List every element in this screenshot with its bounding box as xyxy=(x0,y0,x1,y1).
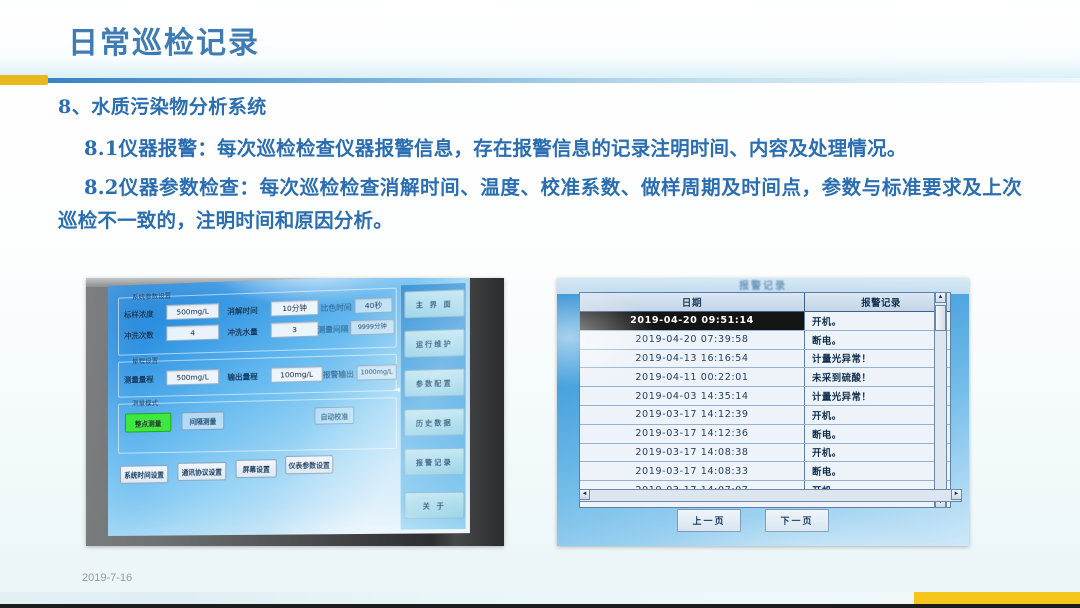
cell-date: 2019-04-20 09:51:14 xyxy=(580,312,805,330)
prev-page-button[interactable]: 上一页 xyxy=(677,509,741,532)
instrument-sidebar: ◄ 主 界 面 运行维护 参数配置 历史数据 报警记录 关 于 xyxy=(400,283,466,530)
scroll-up-icon[interactable]: ▲ xyxy=(935,292,946,303)
label-measure-interval: 测量间隔 xyxy=(318,323,349,335)
horizontal-scrollbar[interactable]: ◄ ► xyxy=(579,489,962,502)
paragraph-8-1: 8.1仪器报警：每次巡检检查仪器报警信息，存在报警信息的记录注明时间、内容及处理… xyxy=(58,132,1022,165)
field-measure-interval[interactable]: 9999分钟 xyxy=(350,319,395,336)
button-system-time-settings[interactable]: 系统时间设置 xyxy=(120,465,168,484)
footer-accent-yellow xyxy=(914,592,1080,604)
cell-date: 2019-03-17 14:08:33 xyxy=(580,462,805,480)
label-output-range: 输出量程 xyxy=(227,371,257,383)
table-row[interactable]: 2019-04-20 07:39:58 断电。 xyxy=(580,331,950,350)
button-meter-parameter-settings[interactable]: 仪表参数设置 xyxy=(285,455,333,474)
page-title: 日常巡检记录 xyxy=(68,18,260,62)
field-rinse-water-volume[interactable]: 3 xyxy=(271,321,319,338)
sidebar-item-about[interactable]: 关 于 xyxy=(404,491,464,519)
table-row[interactable]: 2019-04-11 00:22:01 未采到硫酸！ xyxy=(580,368,950,387)
next-page-button[interactable]: 下一页 xyxy=(765,509,829,532)
label-rinse-water-volume: 冲洗水量 xyxy=(227,326,257,338)
cell-date: 2019-04-03 14:35:14 xyxy=(580,387,805,405)
vertical-scrollbar-thumb[interactable] xyxy=(935,305,946,331)
button-comm-protocol-settings[interactable]: 通讯协议设置 xyxy=(177,462,226,481)
sidebar-item-alarm-record[interactable]: 报警记录 xyxy=(404,448,464,476)
button-interval-measurement[interactable]: 间隔测量 xyxy=(181,411,224,430)
sidebar-item-history-data[interactable]: 历史数据 xyxy=(404,408,464,436)
table-row[interactable]: 2019-03-17 14:08:33 断电。 xyxy=(580,462,950,481)
sidebar-item-main[interactable]: 主 界 面 xyxy=(404,289,464,318)
table-row[interactable]: 2019-04-20 09:51:14 开机。 xyxy=(580,312,950,331)
scroll-left-icon[interactable]: ◄ xyxy=(579,489,590,500)
button-screen-settings[interactable]: 屏幕设置 xyxy=(236,459,277,478)
label-standard-concentration: 标样浓度 xyxy=(124,308,154,320)
label-colorimetry-time: 比色时间 xyxy=(321,302,352,314)
cell-date: 2019-03-17 14:12:36 xyxy=(580,425,805,443)
field-measure-range[interactable]: 500mg/L xyxy=(166,369,219,386)
field-alarm-output[interactable]: 1000mg/L xyxy=(356,364,396,381)
group-system-parameters-title: 系统参数设置 xyxy=(128,290,175,302)
field-output-range[interactable]: 100mg/L xyxy=(271,366,323,383)
cell-date: 2019-04-13 16:16:54 xyxy=(580,350,805,368)
label-rinse-count: 冲洗次数 xyxy=(124,330,154,342)
footer-dark-edge xyxy=(0,604,1080,608)
alarm-table: 日期 报警记录 2019-04-20 09:51:14 开机。 2019-04-… xyxy=(579,292,951,508)
header-glow xyxy=(0,60,1080,80)
cell-date: 2019-04-20 07:39:58 xyxy=(580,331,805,349)
cell-event: 断电。 xyxy=(805,462,950,480)
footer-date: 2019-7-16 xyxy=(82,572,132,584)
scroll-right-icon[interactable]: ► xyxy=(951,489,962,500)
header-divider-line xyxy=(0,78,1080,83)
collapse-arrow-icon[interactable]: ◄ xyxy=(394,385,401,394)
sidebar-item-maintenance[interactable]: 运行维护 xyxy=(404,329,464,358)
button-auto-calibration[interactable]: 自动校准 xyxy=(314,406,354,424)
table-row[interactable]: 2019-03-17 14:12:36 断电。 xyxy=(580,425,950,444)
cell-event: 计量光异常！ xyxy=(805,350,950,368)
field-digestion-time[interactable]: 10分钟 xyxy=(271,300,319,317)
instrument-screen: 系统参数设置 标样浓度 500mg/L 消解时间 10分钟 比色时间 40秒 冲… xyxy=(108,278,470,536)
column-header-alarm-record: 报警记录 xyxy=(805,293,950,311)
table-row[interactable]: 2019-04-03 14:35:14 计量光异常！ xyxy=(580,387,950,406)
field-standard-concentration[interactable]: 500mg/L xyxy=(166,303,219,320)
photo-instrument-parameters: 系统参数设置 标样浓度 500mg/L 消解时间 10分钟 比色时间 40秒 冲… xyxy=(86,278,504,546)
cell-event: 未采到硫酸！ xyxy=(805,368,950,386)
field-rinse-count[interactable]: 4 xyxy=(166,324,219,341)
cell-date: 2019-03-17 14:08:38 xyxy=(580,444,805,462)
sidebar-item-parameter-config[interactable]: 参数配置 xyxy=(404,368,464,397)
vertical-scrollbar[interactable]: ▲ ▼ xyxy=(934,292,947,508)
group-measure-mode-title: 测量模式 xyxy=(128,397,162,408)
field-colorimetry-time[interactable]: 40秒 xyxy=(354,297,392,314)
instrument-screen-content: 系统参数设置 标样浓度 500mg/L 消解时间 10分钟 比色时间 40秒 冲… xyxy=(108,278,470,536)
label-measure-range: 测量量程 xyxy=(124,374,154,386)
button-timed-measurement[interactable]: 整点测量 xyxy=(125,413,171,433)
section-heading: 8、水质污染物分析系统 xyxy=(58,92,1022,122)
paragraph-8-2: 8.2仪器参数检查：每次巡检检查消解时间、温度、校准系数、做样周期及时间点，参数… xyxy=(58,171,1022,237)
cell-event: 开机。 xyxy=(805,444,950,462)
cell-date: 2019-04-11 00:22:01 xyxy=(580,368,805,386)
alarm-window-title: 报警记录 xyxy=(557,278,969,293)
cell-event: 开机。 xyxy=(805,406,950,424)
alarm-screen: 报警记录 日期 报警记录 2019-04-20 09:51:14 开机。 201… xyxy=(557,278,969,546)
photo-alarm-record: 报警记录 日期 报警记录 2019-04-20 09:51:14 开机。 201… xyxy=(557,278,969,546)
content-body: 8、水质污染物分析系统 8.1仪器报警：每次巡检检查仪器报警信息，存在报警信息的… xyxy=(58,92,1022,243)
table-row[interactable]: 2019-04-13 16:16:54 计量光异常！ xyxy=(580,350,950,369)
header-accent-bar xyxy=(0,75,48,85)
cell-date: 2019-03-17 14:12:39 xyxy=(580,406,805,424)
column-header-date: 日期 xyxy=(580,293,805,311)
cell-event: 计量光异常！ xyxy=(805,387,950,405)
table-row[interactable]: 2019-03-17 14:12:39 开机。 xyxy=(580,406,950,425)
alarm-table-header: 日期 报警记录 xyxy=(580,293,950,312)
label-alarm-output: 报警输出 xyxy=(323,368,354,380)
label-digestion-time: 消解时间 xyxy=(227,305,257,317)
cell-event: 断电。 xyxy=(805,331,950,349)
cell-event: 断电。 xyxy=(805,425,950,443)
group-range-settings-title: 量程设置 xyxy=(128,354,162,365)
table-row[interactable]: 2019-03-17 14:08:38 开机。 xyxy=(580,444,950,463)
slide-root: 日常巡检记录 8、水质污染物分析系统 8.1仪器报警：每次巡检检查仪器报警信息，… xyxy=(0,0,1080,608)
cell-event: 开机。 xyxy=(805,312,950,330)
